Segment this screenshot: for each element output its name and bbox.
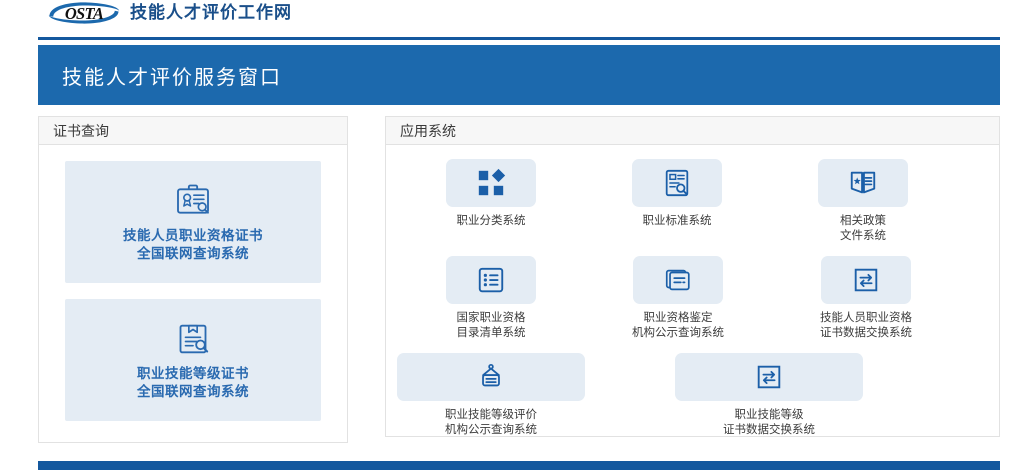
app-item-qualification-data-exchange[interactable]: 技能人员职业资格 证书数据交换系统 [820,256,912,341]
policy-book-star-icon [818,159,908,207]
app-item-label-line1: 职业分类系统 [457,214,526,229]
service-banner: 技能人才评价服务窗口 [38,45,1000,105]
application-systems-grid: 职业分类系统 [386,145,999,438]
app-item-label-line1: 技能人员职业资格 [820,311,912,326]
svg-text:OSTA: OSTA [65,4,104,23]
list-catalog-icon [446,256,536,304]
app-item-label: 技能人员职业资格 证书数据交换系统 [820,311,912,341]
app-item-label-line1: 职业标准系统 [643,214,712,229]
app-item-label-line2: 证书数据交换系统 [723,423,815,438]
app-item-qualification-appraisal-org[interactable]: 职业资格鉴定 机构公示查询系统 [632,256,724,341]
app-item-label: 职业标准系统 [643,214,712,229]
app-item-label-line1: 国家职业资格 [457,311,526,326]
app-item-national-qualification-catalog[interactable]: 国家职业资格 目录清单系统 [446,256,536,341]
grid-squares-icon [446,159,536,207]
app-item-label-line2: 机构公示查询系统 [632,326,724,341]
cert-card-label-line1: 技能人员职业资格证书 [123,227,263,245]
site-title: 技能人才评价工作网 [130,1,292,25]
panel-certificate-query: 证书查询 技能人员职业 [38,116,348,443]
app-item-label-line1: 相关政策 [840,214,886,229]
app-item-label-line2: 机构公示查询系统 [445,423,537,438]
cert-card-label-line2: 全国联网查询系统 [123,245,263,263]
standard-document-search-icon [632,159,722,207]
app-item-label-line2: 文件系统 [840,229,886,244]
panel-application-systems-header: 应用系统 [386,117,999,145]
app-item-label: 相关政策 文件系统 [840,214,886,244]
app-item-label-line1: 职业技能等级评价 [445,408,537,423]
osta-swoosh-logo-icon[interactable]: OSTA [46,1,122,25]
app-item-skill-level-evaluation-org[interactable]: 职业技能等级评价 机构公示查询系统 [397,353,585,438]
footer-bar [38,461,1000,470]
app-item-occupation-standard[interactable]: 职业标准系统 [632,159,722,244]
data-exchange-icon [675,353,863,401]
cert-card-label-line1: 职业技能等级证书 [137,365,249,383]
content-area: 证书查询 技能人员职业 [38,116,1000,443]
app-item-label-line1: 职业技能等级 [723,408,815,423]
cert-card-label: 职业技能等级证书 全国联网查询系统 [137,365,249,401]
app-item-label: 职业分类系统 [457,214,526,229]
panel-certificate-query-body: 技能人员职业资格证书 全国联网查询系统 [39,161,347,421]
app-item-label: 职业资格鉴定 机构公示查询系统 [632,311,724,341]
app-item-label: 职业技能等级评价 机构公示查询系统 [445,408,537,438]
app-item-label-line1: 职业资格鉴定 [632,311,724,326]
panel-certificate-query-header: 证书查询 [39,117,347,145]
site-header: OSTA 技能人才评价工作网 [0,0,1018,38]
app-row: 职业分类系统 [386,159,999,244]
header-divider [38,37,1000,40]
hanging-plaque-icon [397,353,585,401]
stacked-cards-icon [633,256,723,304]
cert-card-label-line2: 全国联网查询系统 [137,383,249,401]
app-item-label-line2: 目录清单系统 [457,326,526,341]
app-item-label: 国家职业资格 目录清单系统 [457,311,526,341]
cert-card-skill-level[interactable]: 职业技能等级证书 全国联网查询系统 [65,299,321,421]
cert-card-skill-qualification[interactable]: 技能人员职业资格证书 全国联网查询系统 [65,161,321,283]
certificate-search-icon [173,181,213,221]
app-item-label: 职业技能等级 证书数据交换系统 [723,408,815,438]
cert-card-label: 技能人员职业资格证书 全国联网查询系统 [123,227,263,263]
document-search-icon [173,319,213,359]
service-banner-title: 技能人才评价服务窗口 [38,61,282,90]
app-item-label-line2: 证书数据交换系统 [820,326,912,341]
app-row: 国家职业资格 目录清单系统 [386,256,999,341]
app-item-skill-level-data-exchange[interactable]: 职业技能等级 证书数据交换系统 [675,353,863,438]
app-item-policy-documents[interactable]: 相关政策 文件系统 [818,159,908,244]
app-row: 职业技能等级评价 机构公示查询系统 职业技能等级 证书数据交 [386,353,999,438]
data-exchange-icon [821,256,911,304]
panel-application-systems: 应用系统 职业分类系统 [385,116,1000,437]
app-item-occupation-classification[interactable]: 职业分类系统 [446,159,536,244]
